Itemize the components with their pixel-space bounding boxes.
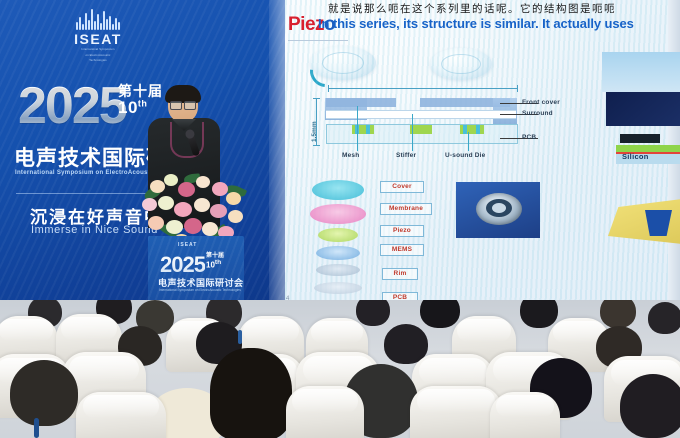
stack-label-rim: Rim — [382, 268, 418, 280]
podium-logo-text: ISEAT — [178, 242, 197, 248]
chair — [490, 392, 560, 438]
lanyard-strap — [34, 418, 39, 438]
label-usound-die: U-sound Die — [445, 152, 485, 159]
podium-edition-cn: 第十届 — [206, 253, 224, 259]
iseat-logo: ISEAT International Symposium on Electro… — [68, 8, 128, 63]
audience-head — [356, 300, 390, 326]
subtitle-chinese: 就是说那么呃在这个系列里的话呢。它的结构图是呃呃 — [328, 1, 616, 16]
audience-head — [620, 374, 680, 438]
chair — [286, 386, 364, 438]
stack-label-membrane: Membrane — [380, 203, 432, 215]
audience-seating — [0, 300, 680, 438]
wafer-photo-top — [602, 52, 680, 92]
slide-title-underline — [288, 40, 348, 41]
exploded-stack-diagram: Cover Membrane Piezo MEMS Rim PCB — [302, 178, 462, 308]
iseat-logo-text: ISEAT — [68, 32, 128, 47]
render-disc-right — [430, 48, 492, 80]
audience-head — [600, 300, 636, 328]
iseat-logo-subtitle-1: International Symposium — [68, 48, 128, 52]
audience-head — [648, 302, 680, 334]
cross-section-diagram: 1.5mm Front cover Surround PCB — [300, 84, 548, 160]
stack-layer-piezo — [318, 228, 358, 242]
chair — [410, 386, 502, 438]
sem-photo — [606, 92, 680, 126]
audio-waveform-icon — [68, 8, 128, 30]
podium-edition-en: 10th — [206, 259, 224, 270]
label-stiffer: Stiffer — [396, 152, 416, 159]
label-silicon: Silicon — [622, 152, 649, 161]
audience-head — [10, 360, 78, 426]
label-front-cover: Front cover — [522, 99, 560, 106]
lanyard-strap — [238, 330, 242, 344]
stack-label-mems: MEMS — [380, 244, 424, 256]
stack-layer-pcb — [314, 282, 362, 294]
podium-title-cn: 电声技术国际研讨会 — [158, 276, 244, 289]
subtitle-english: In this series, its structure is similar… — [318, 16, 634, 31]
stack-layer-rim — [316, 264, 360, 276]
projection-screen: Piezo 1.5mm — [280, 0, 680, 318]
backdrop-tagline-en: Immerse in Nice Sound — [31, 224, 158, 236]
label-pcb-crosssection: PCB — [522, 134, 536, 141]
audience-head — [520, 300, 558, 328]
podium-year: 2025 — [160, 252, 205, 278]
iseat-logo-subtitle-2: on ElectroAcoustic — [68, 54, 128, 58]
usound-die-photo — [456, 182, 540, 238]
stack-layer-membrane — [310, 204, 366, 224]
audience-head — [210, 348, 292, 438]
floral-arrangement — [140, 170, 250, 246]
eyeglasses-icon — [170, 101, 196, 108]
label-mesh: Mesh — [342, 152, 359, 159]
label-surround: Surround — [522, 110, 553, 117]
backdrop-edge-highlight — [269, 0, 285, 330]
stack-label-cover: Cover — [380, 181, 424, 193]
stack-layer-mems — [316, 246, 360, 260]
audience-head — [420, 300, 460, 328]
podium-edition: 第十届 10th — [206, 253, 224, 270]
chair — [76, 392, 166, 438]
stack-layer-cover — [312, 180, 364, 200]
podium-title-en: International Symposium on ElectroAcoust… — [159, 288, 241, 292]
backdrop-year: 2025 — [18, 82, 126, 131]
conference-photo-scene: Piezo 1.5mm — [0, 0, 680, 438]
iseat-logo-subtitle-3: Technologies — [68, 59, 128, 63]
thickness-dimension-label: 1.5mm — [311, 121, 318, 142]
silicon-layer-stack — [616, 134, 680, 166]
stack-label-piezo: Piezo — [380, 225, 424, 237]
